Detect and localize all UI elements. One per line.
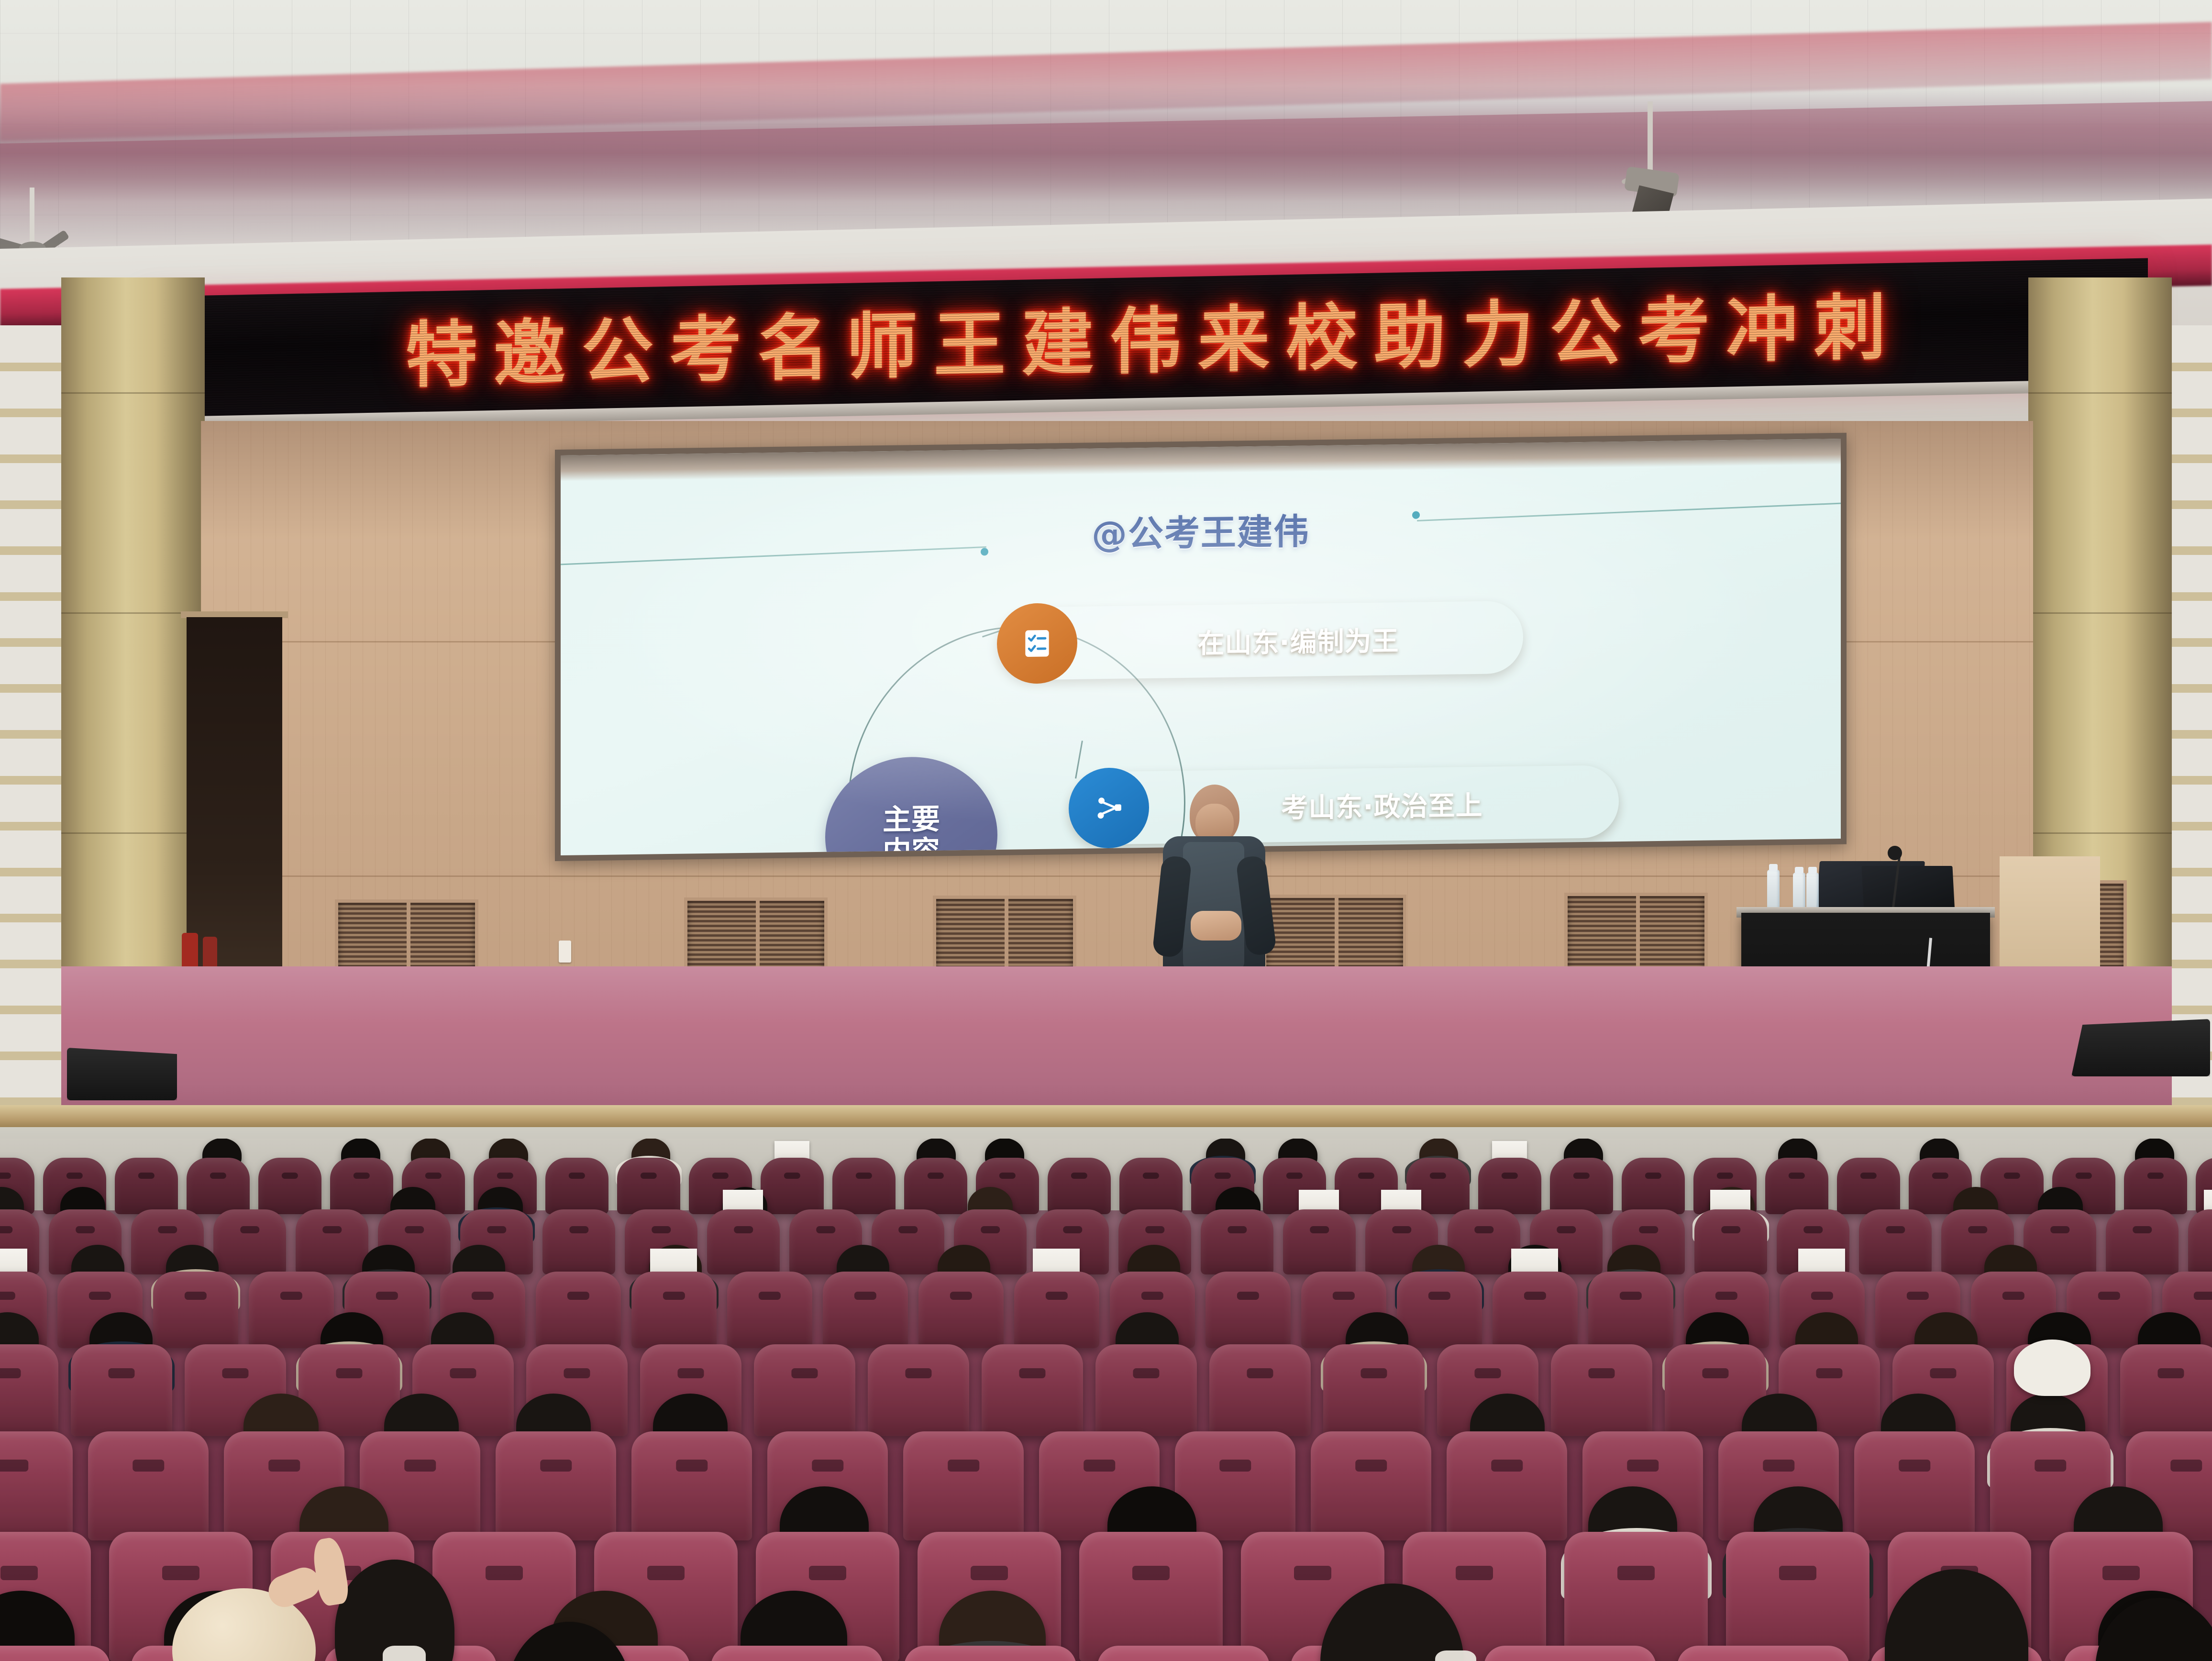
- led-char: 邀: [494, 317, 565, 390]
- audience-seat[interactable]: [982, 1344, 1083, 1436]
- audience-seat[interactable]: [88, 1431, 209, 1540]
- audience-seat[interactable]: [707, 1209, 780, 1274]
- audience-seat[interactable]: [0, 1646, 110, 1661]
- stage-floor-highlight: [61, 966, 2172, 1024]
- audience-seat[interactable]: [1564, 1532, 1708, 1661]
- led-char: 来: [1198, 304, 1270, 377]
- checklist-icon: [997, 603, 1077, 684]
- led-char: 伟: [1110, 305, 1182, 378]
- audience-white-cap: [2014, 1340, 2090, 1396]
- audience-seat[interactable]: [1048, 1158, 1111, 1214]
- presenter-hands: [1191, 911, 1241, 941]
- audience-seat[interactable]: [258, 1158, 321, 1214]
- audience-seat[interactable]: [711, 1646, 883, 1661]
- audience-seat[interactable]: [727, 1272, 812, 1348]
- audience-seat[interactable]: [0, 1344, 58, 1436]
- audience-seat[interactable]: [631, 1431, 752, 1540]
- led-char: 冲: [1726, 294, 1798, 367]
- wall-switch[interactable]: [559, 941, 571, 963]
- audience-seat[interactable]: [1323, 1344, 1425, 1436]
- audience-seat[interactable]: [903, 1431, 1024, 1540]
- audience-seat[interactable]: [617, 1158, 680, 1214]
- right-wall-panel: [2172, 325, 2212, 1129]
- audience-seat[interactable]: [1201, 1209, 1273, 1274]
- audience-seat[interactable]: [213, 1209, 286, 1274]
- audience-seat[interactable]: [2188, 1209, 2212, 1274]
- audience-seat[interactable]: [542, 1209, 615, 1274]
- audience-seat[interactable]: [1551, 1344, 1652, 1436]
- audience-seat[interactable]: [823, 1272, 908, 1348]
- water-bottle-cap: [1795, 867, 1803, 874]
- led-char: 公: [582, 316, 653, 389]
- face-mask: [1435, 1650, 1476, 1661]
- audience-seat[interactable]: [153, 1272, 238, 1348]
- audience-seat[interactable]: [1014, 1272, 1099, 1348]
- audience-seat[interactable]: [754, 1344, 855, 1436]
- audience-seat[interactable]: [1209, 1344, 1311, 1436]
- audience-seat[interactable]: [2106, 1209, 2179, 1274]
- audience-seat[interactable]: [71, 1344, 172, 1436]
- audience-seat[interactable]: [187, 1158, 250, 1214]
- water-bottle: [1767, 870, 1780, 911]
- water-bottle-cap: [1808, 867, 1817, 874]
- audience-seat[interactable]: [832, 1158, 896, 1214]
- audience-seat[interactable]: [1694, 1209, 1767, 1274]
- audience-seat[interactable]: [761, 1158, 824, 1214]
- audience-seat[interactable]: [1097, 1646, 1270, 1661]
- audience-seat[interactable]: [1283, 1209, 1356, 1274]
- audience-seat[interactable]: [1311, 1431, 1431, 1540]
- core-label-line1: 主要: [883, 803, 940, 836]
- stage-door[interactable]: [187, 617, 282, 981]
- audience-seat[interactable]: [868, 1344, 969, 1436]
- audience-seat[interactable]: [536, 1272, 621, 1348]
- audience-seat[interactable]: [904, 1158, 967, 1214]
- audience-seat[interactable]: [1622, 1158, 1685, 1214]
- microphone-icon: [1888, 846, 1902, 860]
- audience-seat[interactable]: [1206, 1272, 1291, 1348]
- audience-seat[interactable]: [1484, 1646, 1656, 1661]
- audience-seat[interactable]: [1726, 1532, 1869, 1661]
- audience-seat[interactable]: [1397, 1272, 1482, 1348]
- audience-seat[interactable]: [1079, 1532, 1223, 1661]
- auditorium-scene: 特邀公考名师王建伟来校助力公考冲刺 @公考王建伟: [0, 0, 2212, 1661]
- ceiling-fan-rod: [30, 188, 34, 245]
- led-char: 师: [846, 310, 918, 384]
- face-mask: [383, 1646, 426, 1661]
- stage-side-panel: [2000, 856, 2100, 981]
- network-nodes-icon: [1069, 767, 1149, 849]
- audience-seat[interactable]: [631, 1272, 717, 1348]
- audience-seat[interactable]: [904, 1646, 1076, 1661]
- audience-seat[interactable]: [330, 1158, 393, 1214]
- audience-seat[interactable]: [1119, 1158, 1183, 1214]
- led-char: 校: [1286, 302, 1358, 375]
- audience-seating: [0, 1139, 2212, 1661]
- audience-seat[interactable]: [0, 1431, 73, 1540]
- audience-seat[interactable]: [1478, 1158, 1541, 1214]
- led-char: 刺: [1814, 292, 1886, 365]
- presenter-vest: [1183, 842, 1244, 970]
- audience-seat[interactable]: [1550, 1158, 1613, 1214]
- slide-item-1-label: 在山东·编制为王: [1093, 618, 1504, 662]
- audience-seat[interactable]: [1854, 1431, 1975, 1540]
- audience-seat[interactable]: [918, 1272, 1004, 1348]
- led-char: 特: [406, 319, 477, 392]
- audience-seat[interactable]: [296, 1209, 368, 1274]
- podium-monitor-secondary: [1861, 866, 1955, 914]
- audience-seat[interactable]: [1447, 1431, 1567, 1540]
- led-char: 名: [758, 312, 829, 385]
- water-bottle-cap: [1769, 864, 1778, 871]
- audience-seat[interactable]: [1095, 1344, 1197, 1436]
- ceiling-speaker-rod: [1648, 101, 1653, 173]
- audience-seat[interactable]: [2120, 1344, 2212, 1436]
- led-char: 公: [1550, 297, 1622, 370]
- stage-monitor-speaker-left: [67, 1048, 177, 1100]
- slide-item-1[interactable]: 在山东·编制为王: [997, 601, 1523, 680]
- audience-seat[interactable]: [545, 1158, 608, 1214]
- led-char: 建: [1022, 307, 1094, 380]
- stage-monitor-speaker-right: [2071, 1019, 2210, 1076]
- led-char: 王: [934, 309, 1006, 382]
- led-char: 考: [1638, 295, 1710, 368]
- audience-seat[interactable]: [1677, 1646, 1849, 1661]
- audience-seat[interactable]: [1837, 1158, 1900, 1214]
- audience-seat[interactable]: [1765, 1158, 1828, 1214]
- led-char: 考: [670, 314, 741, 387]
- audience-seat[interactable]: [1588, 1272, 1673, 1348]
- slide-title: @公考王建伟: [561, 496, 1841, 564]
- audience-seat[interactable]: [1859, 1209, 1932, 1274]
- audience-seat[interactable]: [1493, 1272, 1578, 1348]
- led-char: 力: [1462, 299, 1534, 372]
- audience-seat[interactable]: [115, 1158, 178, 1214]
- led-char: 助: [1374, 300, 1446, 374]
- audience-seat[interactable]: [2124, 1158, 2187, 1214]
- audience-seat[interactable]: [496, 1431, 616, 1540]
